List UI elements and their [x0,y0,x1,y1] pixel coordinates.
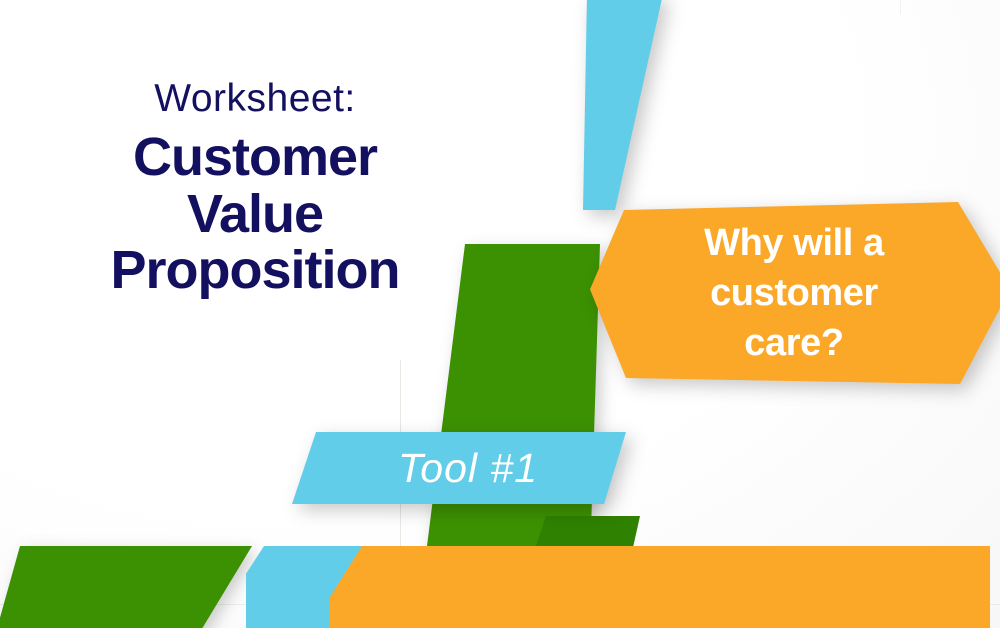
tool-ribbon: Tool #1 [282,428,632,508]
decor-bottom-orange-band [330,540,1000,628]
worksheet-title-line-2: Value [30,186,480,243]
question-callout: Why will a customer care? [578,202,1000,384]
decor-bottom-orange-band-fill [330,540,1000,628]
decor-top-cyan-bar-fill [505,0,705,210]
decor-top-cyan-bar [505,0,705,210]
worksheet-title: Customer Value Proposition [30,129,480,299]
question-callout-line-3: care? [744,318,843,368]
worksheet-label: Worksheet: [30,78,480,121]
worksheet-title-line-1: Customer [30,129,480,186]
question-callout-line-1: Why will a [704,218,884,268]
worksheet-title-line-3: Proposition [30,242,480,299]
page-title: Worksheet: Customer Value Proposition [30,78,480,299]
question-callout-line-2: customer [710,268,878,318]
question-callout-text: Why will a customer care? [624,214,964,372]
guide-line-vertical-right [900,0,901,14]
tool-ribbon-label: Tool #1 [282,432,632,504]
slide-canvas: Worksheet: Customer Value Proposition Wh… [0,0,1000,628]
